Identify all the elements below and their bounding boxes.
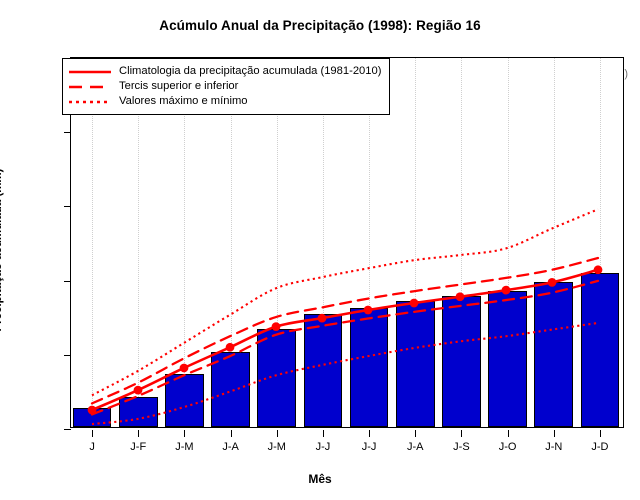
x-axis-tick bbox=[277, 430, 278, 437]
x-axis-tick bbox=[231, 430, 232, 437]
series-marker bbox=[272, 322, 281, 331]
x-axis-tick-label: J-A bbox=[222, 441, 239, 453]
x-axis-tick-label: J-N bbox=[545, 441, 562, 453]
x-axis-tick bbox=[508, 430, 509, 437]
x-axis-tick-label: J-J bbox=[316, 441, 331, 453]
x-axis-tick-label: J-F bbox=[130, 441, 146, 453]
series-marker bbox=[502, 286, 511, 295]
y-axis-tick bbox=[64, 281, 71, 282]
series-marker bbox=[456, 292, 465, 301]
chart-legend: Climatologia da precipitação acumulada (… bbox=[62, 58, 390, 115]
x-axis-tick-label: J-S bbox=[453, 441, 470, 453]
x-axis-tick bbox=[92, 430, 93, 437]
y-axis-tick bbox=[64, 132, 71, 133]
y-axis-title: Precipitação acumulada (mm) bbox=[0, 169, 4, 332]
series-marker bbox=[180, 364, 189, 373]
x-axis-tick-label: J bbox=[89, 441, 95, 453]
dotted-line-key bbox=[69, 96, 111, 108]
x-axis-tick bbox=[138, 430, 139, 437]
series-line bbox=[92, 323, 598, 424]
x-axis-tick-label: J-D bbox=[591, 441, 608, 453]
x-axis-title: Mês bbox=[0, 472, 640, 486]
solid-line-key bbox=[69, 66, 111, 78]
x-axis-tick bbox=[184, 430, 185, 437]
x-axis-tick bbox=[369, 430, 370, 437]
dashed-line-key bbox=[69, 81, 111, 93]
x-axis-tick-label: J-M bbox=[175, 441, 193, 453]
series-marker bbox=[134, 386, 143, 395]
x-axis-tick bbox=[600, 430, 601, 437]
legend-item: Valores máximo e mínimo bbox=[69, 94, 381, 109]
legend-item: Tercis superior e inferior bbox=[69, 79, 381, 94]
series-marker bbox=[226, 343, 235, 352]
x-axis-tick-label: J-J bbox=[362, 441, 377, 453]
page-title: Acúmulo Anual da Precipitação (1998): Re… bbox=[0, 18, 640, 33]
y-axis-tick bbox=[64, 429, 71, 430]
series-line bbox=[92, 281, 598, 415]
x-axis-tick-label: J-O bbox=[499, 441, 517, 453]
x-axis-tick bbox=[554, 430, 555, 437]
legend-item: Climatologia da precipitação acumulada (… bbox=[69, 64, 381, 79]
y-axis-tick bbox=[64, 206, 71, 207]
series-marker bbox=[318, 314, 327, 323]
series-marker bbox=[594, 265, 603, 274]
x-axis-tick bbox=[323, 430, 324, 437]
x-axis-tick bbox=[415, 430, 416, 437]
legend-item-label: Valores máximo e mínimo bbox=[119, 94, 248, 109]
series-marker bbox=[410, 299, 419, 308]
series-line bbox=[92, 270, 598, 410]
x-axis-tick-label: J-M bbox=[268, 441, 286, 453]
series-marker bbox=[364, 306, 373, 315]
chart-root: Acúmulo Anual da Precipitação (1998): Re… bbox=[0, 0, 640, 500]
y-axis-tick bbox=[64, 355, 71, 356]
series-marker bbox=[548, 278, 557, 287]
legend-item-label: Climatologia da precipitação acumulada (… bbox=[119, 64, 381, 79]
x-axis-tick bbox=[461, 430, 462, 437]
x-axis-tick-label: J-A bbox=[407, 441, 424, 453]
legend-item-label: Tercis superior e inferior bbox=[119, 79, 238, 94]
